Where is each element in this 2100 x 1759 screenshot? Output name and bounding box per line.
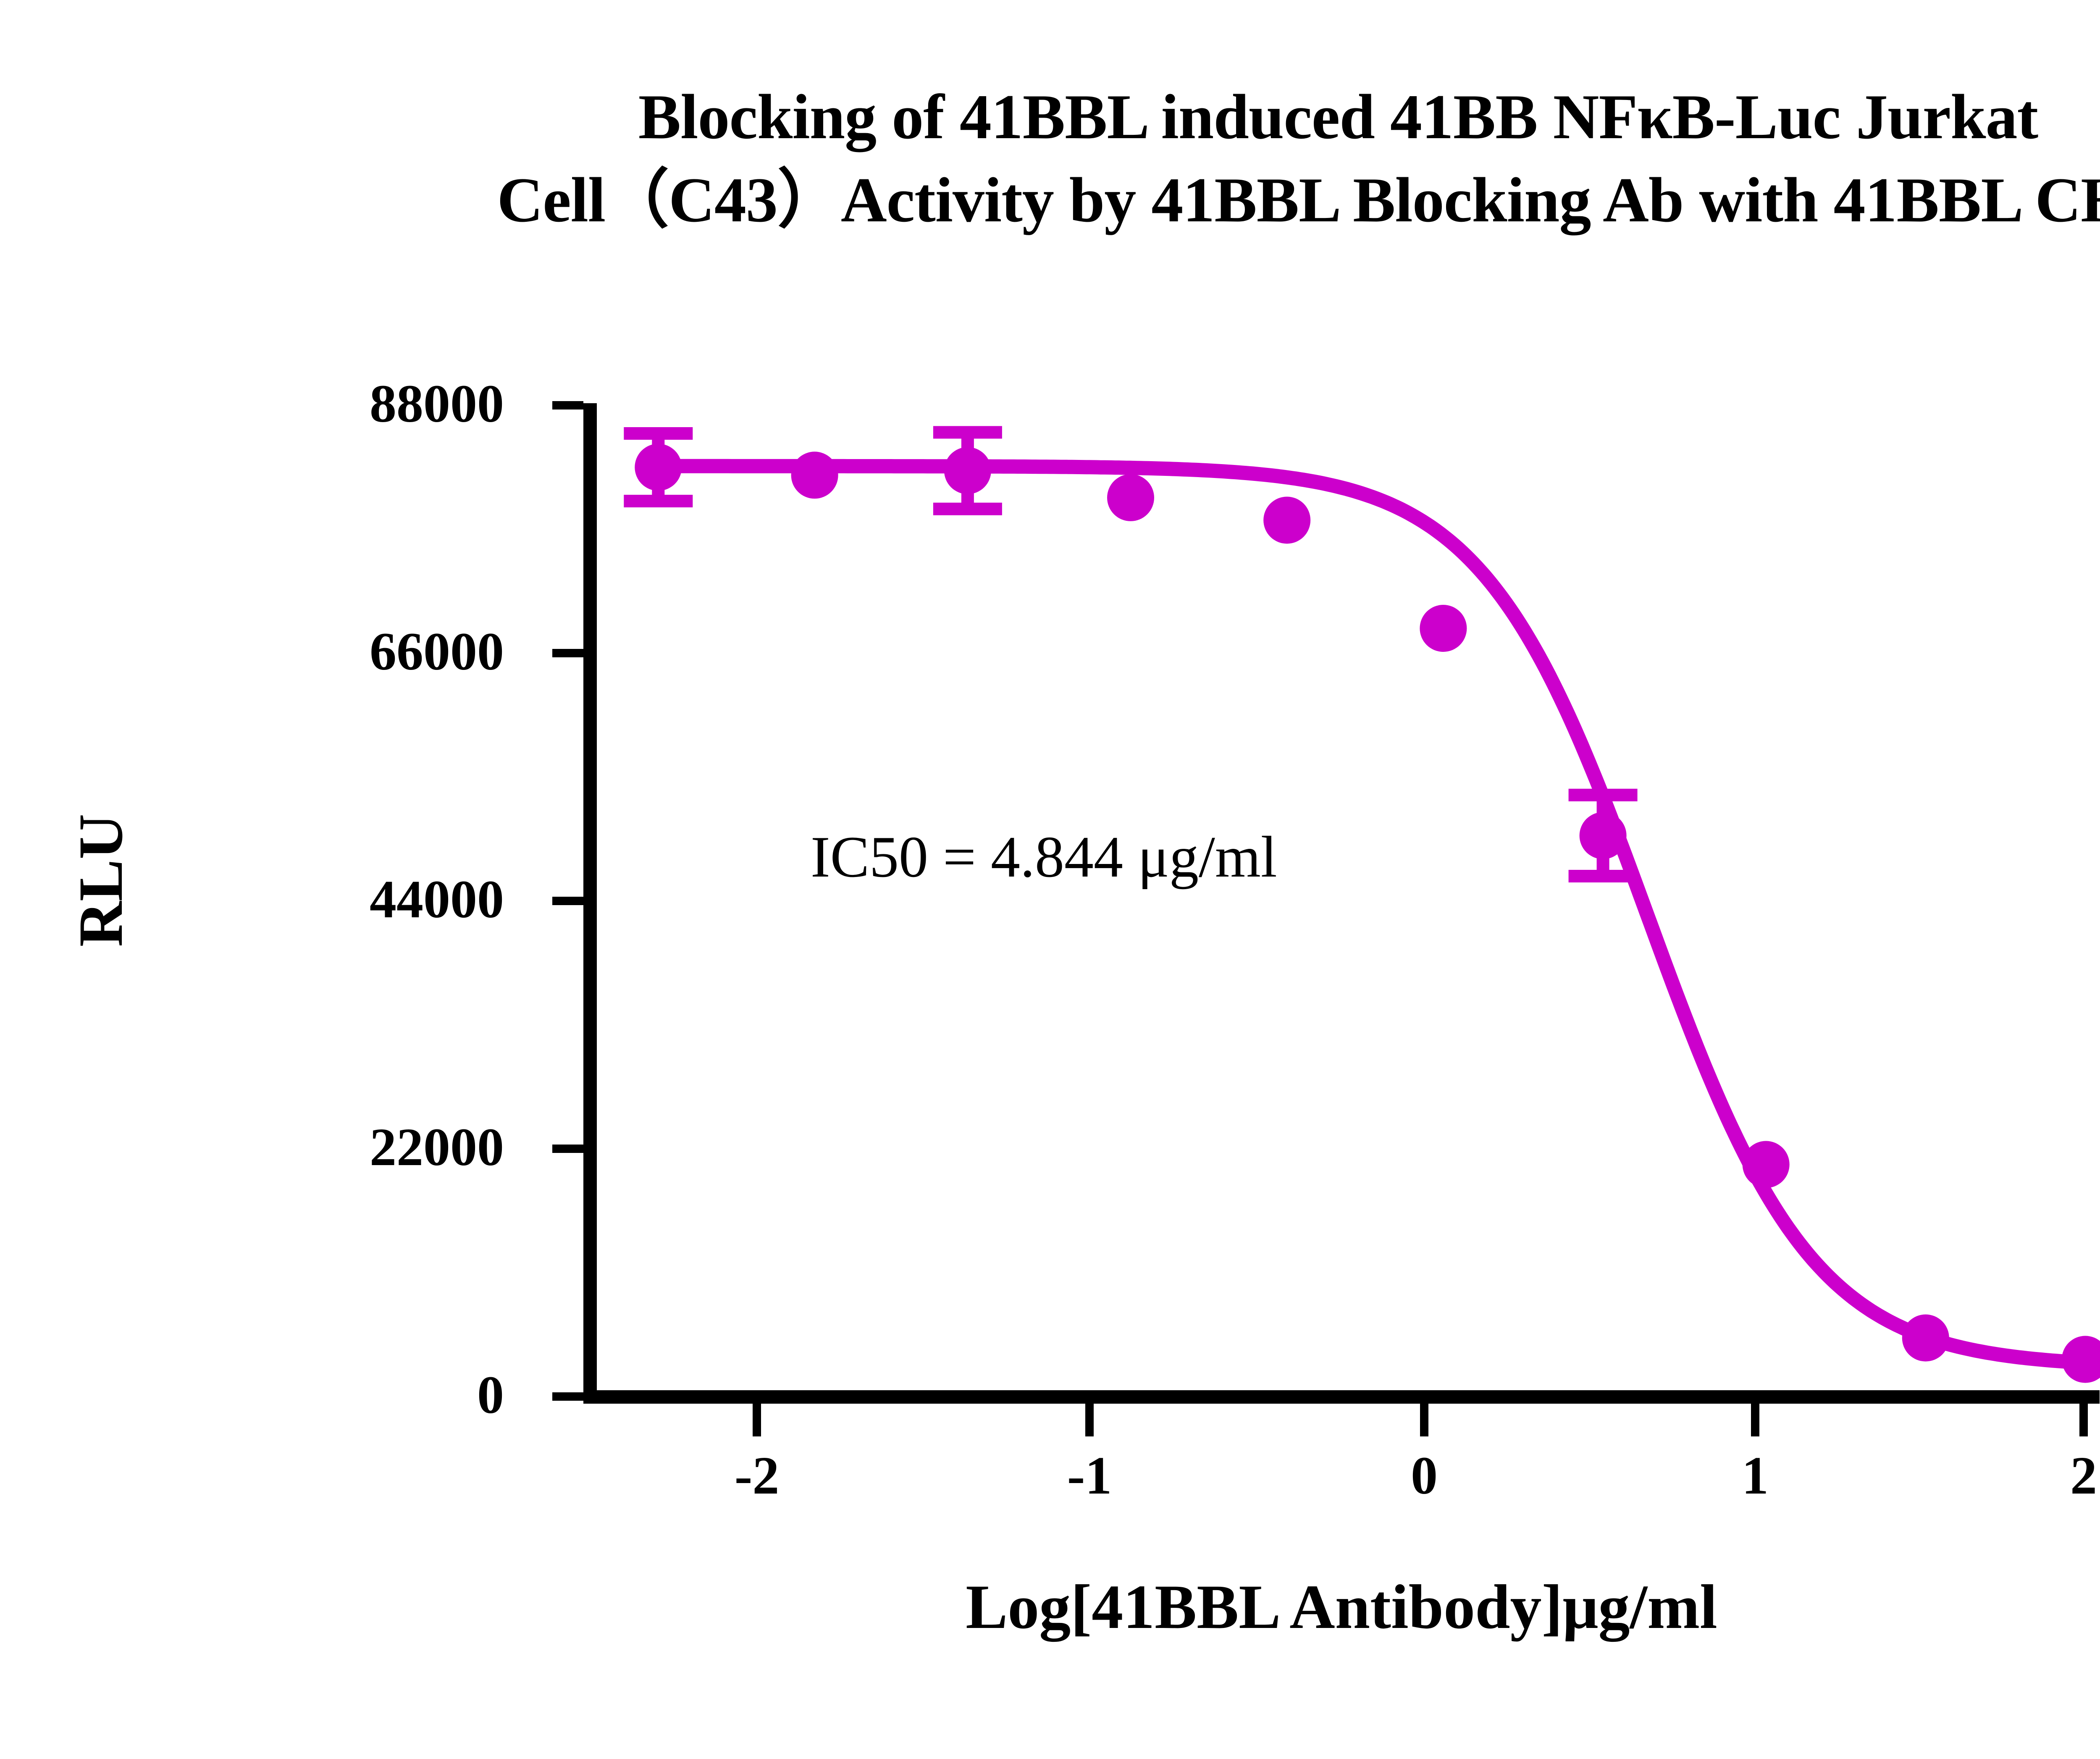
data-point <box>1107 474 1154 521</box>
x-tick-label-minus1: -1 <box>1005 1445 1173 1507</box>
y-axis-title: RLU <box>65 712 137 1048</box>
x-tick-minus2 <box>753 1404 761 1436</box>
y-tick-88000 <box>552 401 583 410</box>
y-tick-44000 <box>552 897 583 905</box>
data-point <box>791 452 838 499</box>
error-bar <box>933 432 1002 509</box>
y-tick-label-88000: 88000 <box>126 377 504 431</box>
y-tick-label-0: 0 <box>126 1368 504 1422</box>
y-tick-label-22000: 22000 <box>126 1120 504 1174</box>
error-bar <box>624 433 693 501</box>
x-axis-title: Log[41BBL Antibody]μg/ml <box>583 1571 2100 1643</box>
y-tick-22000 <box>552 1145 583 1153</box>
x-tick-label-2: 2 <box>2000 1445 2100 1507</box>
x-tick-0 <box>1420 1404 1428 1436</box>
x-tick-2 <box>2079 1404 2088 1436</box>
data-point <box>1263 497 1310 544</box>
series-41bbl-blocking-ab <box>624 432 2100 1383</box>
x-tick-label-1: 1 <box>1671 1445 1839 1507</box>
data-point <box>1902 1315 1949 1362</box>
data-point <box>1743 1141 1790 1188</box>
x-tick-1 <box>1751 1404 1759 1436</box>
fit-curve <box>645 466 2092 1363</box>
y-tick-66000 <box>552 649 583 657</box>
x-tick-minus1 <box>1085 1404 1094 1436</box>
data-point <box>1580 812 1627 859</box>
data-point <box>635 444 682 491</box>
y-tick-label-66000: 66000 <box>126 625 504 678</box>
ic50-annotation: IC50 = 4.844 μg/ml <box>811 823 1277 891</box>
x-tick-label-minus2: -2 <box>673 1445 841 1507</box>
y-tick-label-44000: 44000 <box>126 872 504 926</box>
data-point <box>1420 605 1467 652</box>
y-tick-0 <box>552 1392 583 1401</box>
error-bar <box>1569 795 1638 876</box>
y-axis-line <box>583 403 597 1399</box>
x-tick-label-0: 0 <box>1340 1445 1508 1507</box>
data-point <box>2062 1336 2100 1383</box>
figure-canvas: Blocking of 41BBL induced 41BB NFκB-Luc … <box>0 0 2100 1759</box>
data-point <box>944 447 991 494</box>
x-axis-line <box>583 1390 2100 1404</box>
plot-area: 88000 66000 44000 22000 0 -2 -1 0 1 2 RL… <box>0 0 2100 1759</box>
